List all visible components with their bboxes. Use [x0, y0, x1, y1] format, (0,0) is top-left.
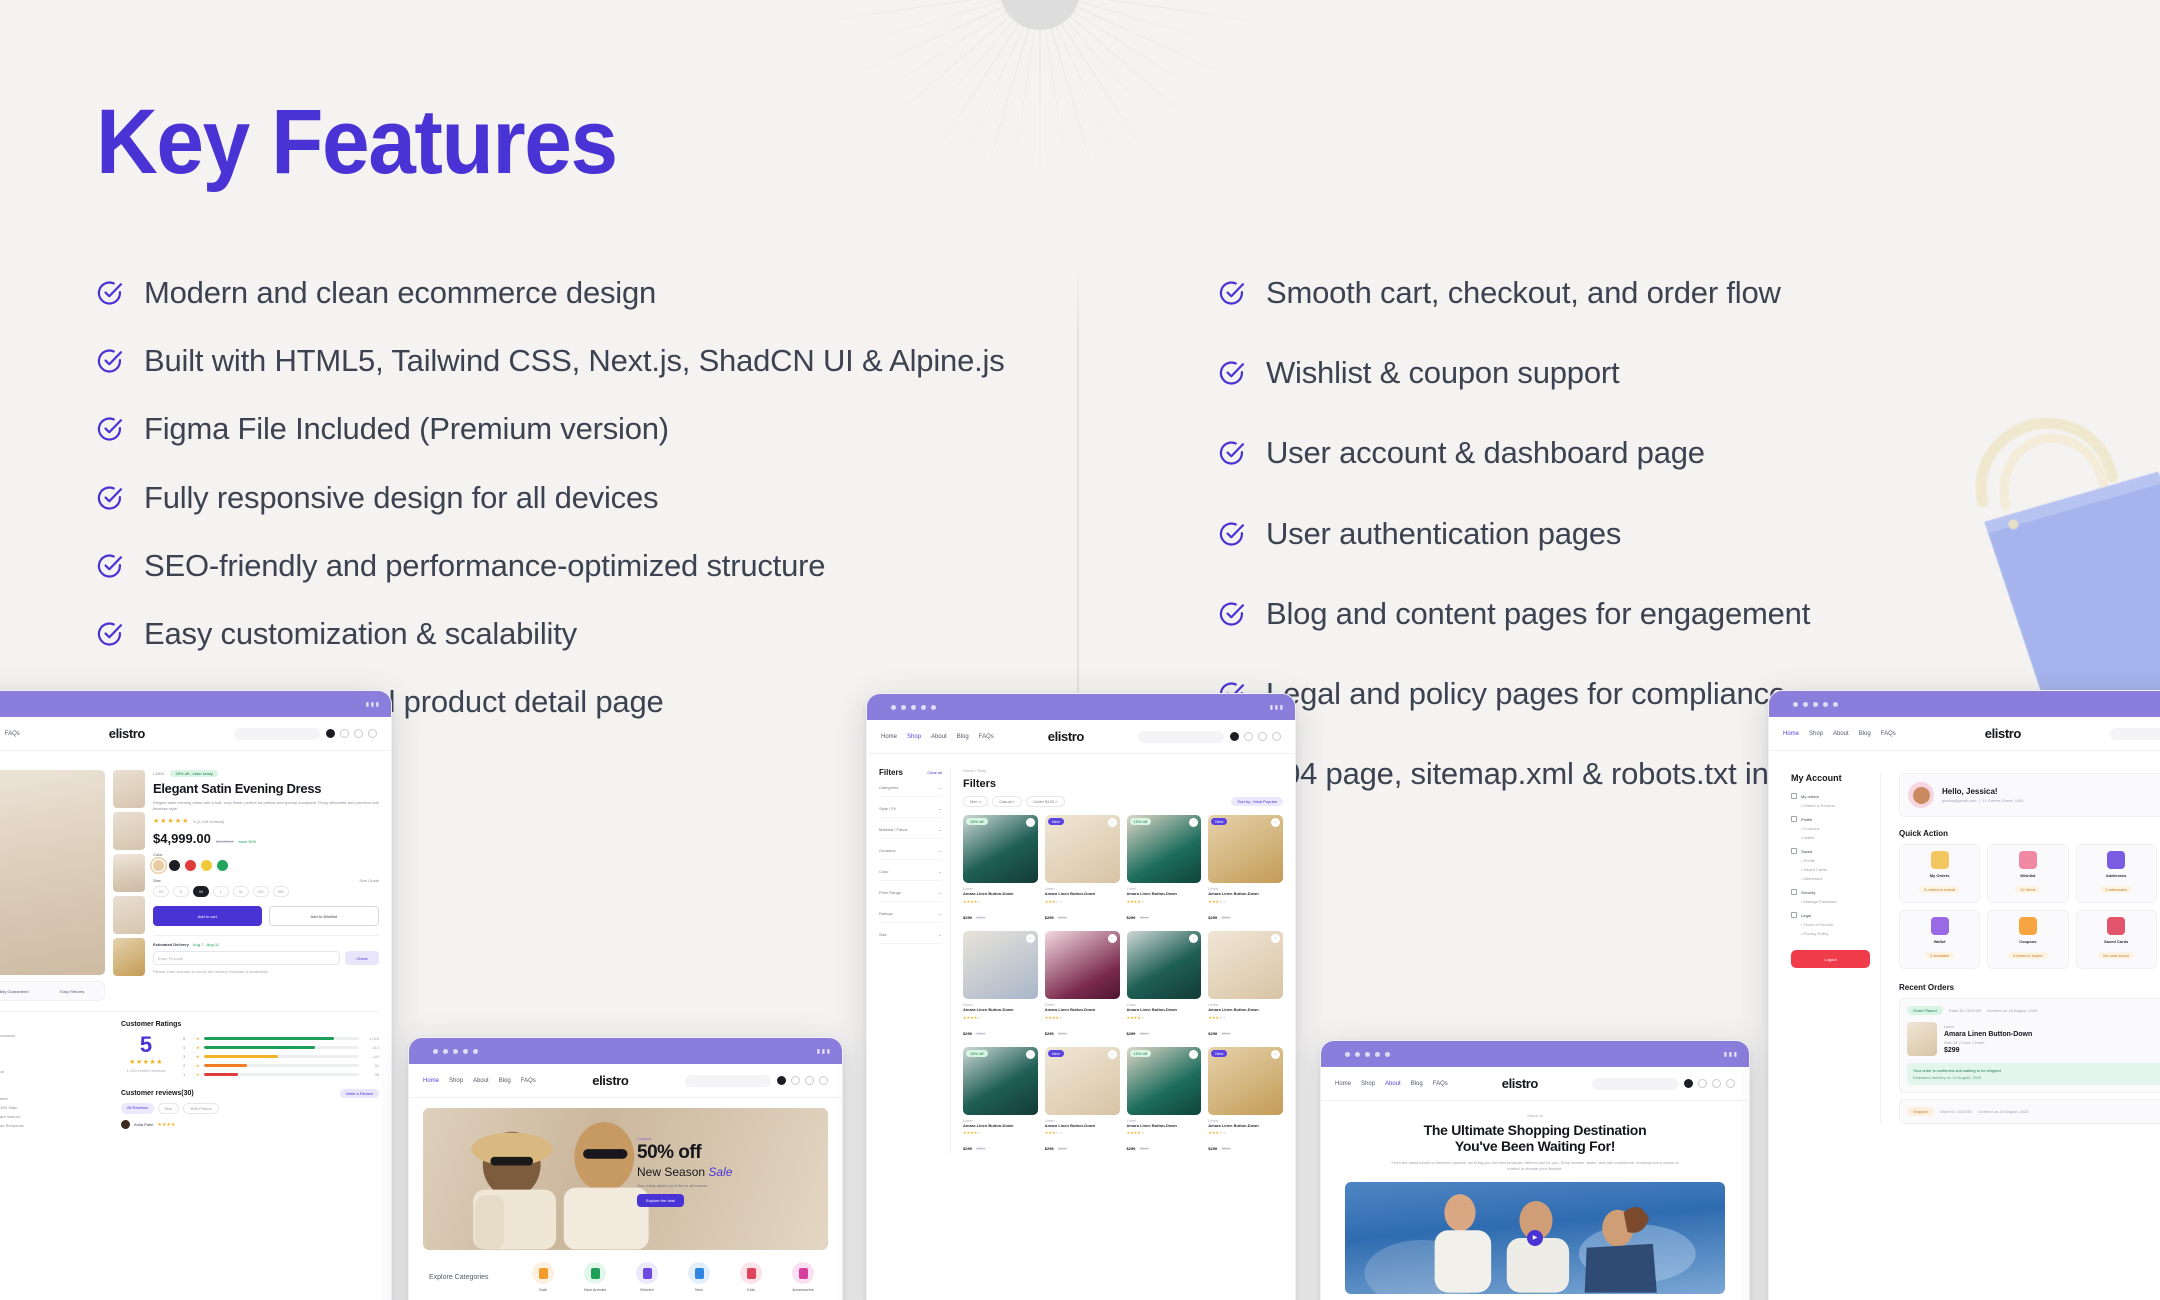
product-card[interactable]: ♡ Linen Amara Linen Button-Down ★★★★★ $2… [963, 931, 1038, 1040]
save-text: save 30% [239, 839, 257, 844]
rating-bar-row: 1 ★ 36 [183, 1072, 379, 1077]
quick-action-icon [1931, 851, 1949, 869]
nav-group-icon [1791, 848, 1797, 854]
mockup2-nav-right [685, 1075, 828, 1087]
avatar-icon[interactable] [777, 1076, 786, 1085]
order-item-brand: Linen [1944, 1024, 2032, 1029]
search-input[interactable] [685, 1075, 771, 1087]
logout-button[interactable]: Logout [1791, 950, 1870, 968]
search-input[interactable] [1592, 1078, 1678, 1090]
check-circle-icon [1218, 359, 1246, 392]
check-pincode-button[interactable]: Check [345, 951, 379, 965]
avatar-icon[interactable] [1684, 1079, 1693, 1088]
mockup2-nav-links[interactable]: HomeShopAboutBlogFAQs [423, 1078, 536, 1084]
review-filter-chip[interactable]: All Reviews [121, 1103, 154, 1114]
mockup-user-dashboard[interactable]: ▮ ▮ ▮ HomeShopAboutBlogFAQs elistro My A… [1768, 690, 2160, 1300]
nav-group-icon [1791, 816, 1797, 822]
rating-bar-row: 3 ★ 144 [183, 1054, 379, 1059]
feature-label: Legal and policy pages for compliance [1266, 673, 1786, 714]
search-input[interactable] [1138, 731, 1224, 743]
about-title-line1: The Ultimate Shopping Destination [1345, 1122, 1725, 1138]
color-swatch[interactable] [153, 860, 164, 871]
add-to-cart-button[interactable]: Add to cart [153, 906, 262, 926]
chrome-status: ▮ ▮ ▮ [1270, 704, 1283, 711]
mockup3-navbar: HomeShopAboutBlogFAQs elistro [867, 720, 1295, 754]
filter-group[interactable]: Style / Fit⌄ [879, 806, 942, 818]
mockup1-nav-links[interactable]: HomeShopAboutBlogFAQs [0, 731, 20, 737]
nav-icon-group[interactable] [1230, 732, 1281, 741]
mockup5-body: My Account My orders• Orders & Returns P… [1769, 751, 2160, 1146]
browser-chrome-bar: ▮ ▮ ▮ [867, 694, 1295, 720]
recent-orders-heading: Recent Orders [1899, 983, 1954, 992]
quick-action-icon [2107, 851, 2125, 869]
details-heading: Product Details [0, 1021, 105, 1028]
chevron-down-icon: ⌄ [939, 911, 942, 916]
account-nav-item[interactable]: • Wallet [1801, 835, 1870, 840]
avatar-icon[interactable] [326, 729, 335, 738]
product-card[interactable]: 15% off ♡ Linen Amara Linen Button-Down … [963, 1047, 1038, 1156]
filters-heading: Filters [879, 768, 903, 777]
avatar-icon[interactable] [1230, 732, 1239, 741]
cart-icon[interactable] [1258, 732, 1267, 741]
wishlist-icon[interactable]: ♡ [1189, 1050, 1198, 1059]
mockup3-nav-right [1138, 731, 1281, 743]
mockup-homepage[interactable]: ▮ ▮ ▮ HomeShopAboutBlogFAQs elistro [408, 1037, 843, 1300]
check-circle-icon [96, 484, 124, 517]
about-title-line2: You've Been Waiting For! [1345, 1138, 1725, 1154]
product-card[interactable]: ♡ Linen Amara Linen Button-Down ★★★★★ $2… [1127, 931, 1202, 1040]
nav-link-shop[interactable]: Shop [1361, 1081, 1375, 1087]
quick-action-icon [2019, 917, 2037, 935]
rating-bar-row: 5 ★ 1,043 [183, 1036, 379, 1041]
hero-sub-plain: New Season [637, 1165, 705, 1179]
search-input[interactable] [234, 728, 320, 740]
hero-description: Sun-ready styles you'll live in all seas… [637, 1183, 812, 1188]
cart-icon[interactable] [354, 729, 363, 738]
detail-item: —Lightweight & comfortable, perfect for … [0, 1069, 105, 1074]
second-order-date: Ordered on 20 August, 2025 [1978, 1109, 2028, 1114]
chevron-down-icon: ⌄ [939, 827, 942, 832]
product-card[interactable]: New ♡ Linen Amara Linen Button-Down ★★★★… [1208, 1047, 1283, 1156]
second-order-status-badge: Shipped [1907, 1107, 1934, 1116]
brand-logo: elistro [1448, 1076, 1592, 1091]
trust-badge-3: Easy Returns [60, 989, 84, 994]
nav-link-about[interactable]: About [473, 1078, 489, 1084]
spec-row: Evening WearDart Response [0, 1121, 105, 1130]
active-filter-chips[interactable]: Men ×Casual ×Under $100 × [963, 796, 1065, 807]
window-dots [1345, 1052, 1390, 1057]
mockup5-nav-links[interactable]: HomeShopAboutBlogFAQs [1783, 731, 1896, 737]
order-date: Ordered on 18 August, 2025 [1987, 1008, 2037, 1013]
feature-label: Built with HTML5, Tailwind CSS, Next.js,… [144, 340, 1005, 381]
feature-item: Smooth cart, checkout, and order flow [1218, 272, 2064, 313]
sort-dropdown[interactable]: Sort by : Most Popular [1231, 797, 1283, 806]
feature-label: User account & dashboard page [1266, 432, 1705, 473]
search-input[interactable] [2110, 728, 2160, 740]
about-video-banner[interactable]: ▶ [1345, 1182, 1725, 1294]
nav-link-home[interactable]: Home [881, 734, 897, 740]
rating-bar-row: 2 ★ 52 [183, 1063, 379, 1068]
account-nav-item[interactable]: • Coupons [1801, 826, 1870, 831]
chrome-status: ▮ ▮ ▮ [366, 701, 379, 708]
mockup-product-detail[interactable]: ▮ ▮ ▮ HomeShopAboutBlogFAQs elistro Home… [0, 690, 392, 1300]
size-option[interactable]: 3XL [273, 886, 289, 897]
listing-heading: Filters [963, 778, 1283, 790]
delivery-dates: Aug 7 - Aug 11 [193, 942, 219, 947]
product-grid: 15% off ♡ Linen Amara Linen Button-Down … [963, 815, 1283, 1155]
check-circle-icon [1218, 439, 1246, 472]
avatar [1908, 782, 1934, 808]
filter-group[interactable]: Occasion⌄ [879, 848, 942, 860]
nav-link-shop[interactable]: Shop [1809, 731, 1823, 737]
chevron-down-icon: ⌄ [939, 890, 942, 895]
nav-link-faqs[interactable]: FAQs [5, 731, 20, 737]
mockup4-nav-links[interactable]: HomeShopAboutBlogFAQs [1335, 1081, 1448, 1087]
rating-stars-icon: ★★★★★ [121, 1058, 171, 1066]
quick-action-heading: Quick Action [1899, 829, 2160, 838]
wishlist-icon[interactable]: ♡ [1026, 934, 1035, 943]
breadcrumb: Home / Shop / Women / Dress / Evening Dr… [0, 759, 379, 764]
profile-email: jessica@gmail.com [1942, 798, 1977, 803]
reviewer-name: Anita Patel [134, 1122, 153, 1127]
filter-group[interactable]: Size⌄ [879, 932, 942, 944]
chrome-status: ▮ ▮ ▮ [817, 1048, 830, 1055]
feature-label: Modern and clean ecommerce design [144, 272, 656, 313]
category-item[interactable]: Accessories [784, 1262, 822, 1292]
breadcrumb: Home / Shop [963, 768, 1283, 773]
check-circle-icon [1218, 520, 1246, 553]
mockup-product-listing[interactable]: ▮ ▮ ▮ HomeShopAboutBlogFAQs elistro Filt… [866, 693, 1296, 1300]
filter-group[interactable]: Price Range⌄ [879, 890, 942, 902]
size-option[interactable]: 2XL [253, 886, 269, 897]
feature-label: Blog and content pages for engagement [1266, 593, 1810, 634]
user-icon[interactable] [1726, 1079, 1735, 1088]
brand-logo: elistro [536, 1073, 685, 1088]
user-icon[interactable] [368, 729, 377, 738]
trust-badge-2: Quality Guaranteed [0, 989, 29, 994]
spec-row: Women's Formalwear100% Satin [0, 1103, 105, 1112]
size-guide-link[interactable]: Size Guide [359, 878, 379, 883]
product-label: LABEL [153, 771, 165, 776]
mockup5-nav-right [2110, 728, 2160, 740]
profile-card: Hello, Jessica! jessica@gmail.com | 21 G… [1899, 773, 2160, 817]
quick-action-icon [2019, 851, 2037, 869]
category-item[interactable]: New Arrivals [576, 1262, 614, 1292]
specs-table: CategoryFabricWomen's Formalwear100% Sat… [0, 1094, 105, 1130]
ratings-heading: Customer Ratings [121, 1021, 379, 1028]
mockup4-navbar: HomeShopAboutBlogFAQs elistro [1321, 1067, 1749, 1101]
size-option[interactable]: XS [153, 886, 169, 897]
color-swatch[interactable] [169, 860, 180, 871]
account-heading: My Account [1791, 773, 1870, 783]
product-title: Elegant Satin Evening Dress [153, 781, 379, 796]
feature-label: SEO-friendly and performance-optimized s… [144, 545, 825, 586]
check-circle-icon [1218, 600, 1246, 633]
detail-item: —Elegant A-Line Satin Dress for parties … [0, 1033, 105, 1038]
nav-link-home[interactable]: Home [1335, 1081, 1351, 1087]
quick-action-card[interactable]: My Orders 3 orders in transit [1899, 844, 1980, 903]
mockup-about-page[interactable]: ▮ ▮ ▮ HomeShopAboutBlogFAQs elistro Abou… [1320, 1040, 1750, 1300]
mockup4-nav-right [1592, 1078, 1735, 1090]
rating-bars: 5 ★ 1,0434 ★ 4123 ★ 1442 ★ 521 ★ 36 [183, 1034, 379, 1077]
window-dots [433, 1049, 478, 1054]
detail-item: —Midi length with soft, flowing drape [0, 1051, 105, 1056]
product-card[interactable]: 15% off ♡ Linen Amara Linen Button-Down … [1127, 1047, 1202, 1156]
order-item-meta: Size: M | Color: Cream [1944, 1040, 2032, 1045]
check-circle-icon [96, 620, 124, 653]
review-filter-chips[interactable]: All ReviewsStarWith Photos [121, 1103, 379, 1114]
nav-icon-group[interactable] [1684, 1079, 1735, 1088]
write-review-button[interactable]: Write a Review [340, 1089, 379, 1098]
quick-action-card[interactable]: Wishlist 12 items [1987, 844, 2068, 903]
color-swatches[interactable] [153, 860, 379, 871]
brand-logo: elistro [20, 726, 234, 741]
filter-chip[interactable]: Casual × [992, 796, 1022, 807]
order-card: Order Placed Order ID: OD2093 Ordered on… [1899, 998, 2160, 1093]
sunburst-decoration [810, 0, 1270, 220]
quick-action-card[interactable]: Addresses 2 addresses [2076, 844, 2157, 903]
nav-link-blog[interactable]: Blog [499, 1078, 511, 1084]
quick-action-card[interactable]: Coupons 4 Items to expire [1987, 910, 2068, 969]
order-note-sub: Estimated delivery on 24 August, 2025 [1913, 1075, 2160, 1080]
nav-link-shop[interactable]: Shop [449, 1078, 463, 1084]
product-card[interactable]: 15% off ♡ Linen Amara Linen Button-Down … [1127, 815, 1202, 924]
category-item[interactable]: Kids [732, 1262, 770, 1292]
mockup4-body: About us The Ultimate Shopping Destinati… [1321, 1101, 1749, 1300]
feature-label: User authentication pages [1266, 513, 1621, 554]
nav-link-blog[interactable]: Blog [1411, 1081, 1423, 1087]
hero-cta-button[interactable]: Explore the deal [637, 1194, 684, 1207]
browser-chrome-bar: ▮ ▮ ▮ [1321, 1041, 1749, 1067]
check-circle-icon [96, 552, 124, 585]
product-card[interactable]: 15% off ♡ Linen Amara Linen Button-Down … [963, 815, 1038, 924]
nav-link-home[interactable]: Home [423, 1078, 439, 1084]
feature-item: Easy customization & scalability [96, 613, 1018, 654]
review-filter-chip[interactable]: With Photos [183, 1103, 219, 1114]
product-old-price: $6,999.00 [216, 839, 234, 844]
profile-address: 21 Greens Street, USA [1982, 798, 2023, 803]
filter-group[interactable]: Material / Fabric⌄ [879, 827, 942, 839]
filter-group[interactable]: Color⌄ [879, 869, 942, 881]
chevron-down-icon: ⌄ [939, 785, 942, 790]
nav-group-icon [1791, 889, 1797, 895]
mockup3-body: Filters Clear all Categories⌄Style / Fit… [867, 754, 1295, 1169]
page-root: Key Features Modern and clean ecommerce … [0, 0, 2160, 1300]
product-card[interactable]: New ♡ Linen Amara Linen Button-Down ★★★★… [1045, 815, 1120, 924]
hero-eyebrow: Coupon [637, 1136, 812, 1141]
product-card[interactable]: ♡ Linen Amara Linen Button-Down ★★★★★ $2… [1045, 931, 1120, 1040]
nav-group-icon [1791, 793, 1797, 799]
second-order-id: Order ID: OD2092 [1940, 1109, 1972, 1114]
nav-link-faqs[interactable]: FAQs [979, 734, 994, 740]
product-card[interactable]: ♡ Linen Amara Linen Button-Down ★★★★★ $2… [1208, 931, 1283, 1040]
check-circle-icon [96, 279, 124, 312]
clear-all-link[interactable]: Clear all [927, 770, 942, 775]
window-dots [891, 705, 936, 710]
size-selector[interactable]: XSSMLXL2XL3XL [153, 886, 379, 897]
account-nav-item[interactable]: • Orders & Returns [1801, 803, 1870, 808]
wishlist-icon[interactable]: ♡ [1271, 818, 1280, 827]
wishlist-icon[interactable]: ♡ [1189, 934, 1198, 943]
wishlist-icon[interactable]: ♡ [1026, 1050, 1035, 1059]
order-card-2: Shipped Order ID: OD2092 Ordered on 20 A… [1899, 1099, 2160, 1124]
account-nav-item[interactable]: • Addresses [1801, 876, 1870, 881]
nav-link-about[interactable]: About [1385, 1081, 1401, 1087]
detail-item: —Available in solid & contrast / embroid… [0, 1060, 105, 1065]
nav-link-faqs[interactable]: FAQs [1881, 731, 1896, 737]
quick-action-icon [1931, 917, 1949, 935]
wishlist-icon[interactable]: ♡ [1189, 818, 1198, 827]
color-swatch[interactable] [217, 860, 228, 871]
mockup1-navbar: HomeShopAboutBlogFAQs elistro [0, 717, 391, 751]
filter-chip[interactable]: Men × [963, 796, 988, 807]
pincode-input[interactable]: Enter Pincode [153, 951, 340, 965]
feature-label: Wishlist & coupon support [1266, 352, 1619, 393]
wishlist-icon[interactable]: ♡ [1108, 1050, 1117, 1059]
delivery-label: Estimated Delivery [153, 942, 189, 947]
wishlist-icon[interactable] [1244, 732, 1253, 741]
quick-action-grid[interactable]: My Orders 3 orders in transit Wishlist 1… [1899, 844, 2160, 969]
filter-chip[interactable]: Under $100 × [1026, 796, 1064, 807]
nav-link-shop[interactable]: Shop [907, 734, 921, 740]
wishlist-icon[interactable] [340, 729, 349, 738]
wishlist-icon[interactable]: ♡ [1271, 934, 1280, 943]
rating-value: 5 [121, 1034, 171, 1056]
order-item-name: Amara Linen Button-Down [1944, 1031, 2032, 1038]
details-list: —Elegant A-Line Satin Dress for parties … [0, 1033, 105, 1074]
nav-link-faqs[interactable]: FAQs [1433, 1081, 1448, 1087]
order-item-price: $299 [1944, 1047, 2032, 1054]
spec-row: OccasionCare Instruct [0, 1112, 105, 1121]
about-description: From the latest trends to timeless class… [1391, 1160, 1679, 1173]
cart-icon[interactable] [1712, 1079, 1721, 1088]
account-nav-group: Profile• Coupons• Wallet [1791, 816, 1870, 840]
account-nav-group: Security• Manage Password [1791, 889, 1870, 904]
quick-action-card[interactable]: Saved Cards No card saved [2076, 910, 2157, 969]
size-option[interactable]: S [173, 886, 189, 897]
mockup2-navbar: HomeShopAboutBlogFAQs elistro [409, 1064, 842, 1098]
nav-link-faqs[interactable]: FAQs [521, 1078, 536, 1084]
feature-label: Fully responsive design for all devices [144, 477, 658, 518]
product-card[interactable]: New ♡ Linen Amara Linen Button-Down ★★★★… [1045, 1047, 1120, 1156]
rating-sub: 1,243 verified reviews [121, 1068, 171, 1073]
account-nav-item[interactable]: • Terms of Service [1801, 922, 1870, 927]
feature-label: Smooth cart, checkout, and order flow [1266, 272, 1781, 313]
browser-chrome-bar: ▮ ▮ ▮ [0, 691, 391, 717]
review-filter-chip[interactable]: Star [158, 1103, 179, 1114]
feature-item: User authentication pages [1218, 513, 2064, 554]
browser-chrome-bar: ▮ ▮ ▮ [409, 1038, 842, 1064]
play-button-icon[interactable]: ▶ [1527, 1230, 1543, 1246]
star-rating-icon: ★★★★★ [153, 817, 189, 825]
feature-item: User account & dashboard page [1218, 432, 2064, 473]
mockup5-navbar: HomeShopAboutBlogFAQs elistro [1769, 717, 2160, 751]
user-icon[interactable] [1272, 732, 1281, 741]
quick-action-icon [2107, 917, 2125, 935]
category-item[interactable]: Men [680, 1262, 718, 1292]
categories-label: Explore Categories [429, 1274, 489, 1281]
review-stars-icon: ★★★★ [157, 1122, 175, 1128]
hero-banner: Coupon 50% off New Season Sale Sun-ready… [423, 1108, 828, 1250]
filter-group[interactable]: Ratings⌄ [879, 911, 942, 923]
wishlist-icon[interactable]: ♡ [1026, 818, 1035, 827]
rating-text: 5 (1,243 reviews) [193, 819, 224, 824]
feature-item: Blog and content pages for engagement [1218, 593, 2064, 634]
size-option[interactable]: XL [233, 886, 249, 897]
quick-action-card[interactable]: Wallet 2 available [1899, 910, 1980, 969]
specs-heading: Specifications [0, 1083, 105, 1090]
category-list[interactable]: Sale New Arrivals Women Men Kids Accesso… [503, 1262, 822, 1292]
account-nav-group: Saved• Profile• Saved Cards• Addresses [1791, 848, 1870, 881]
nav-link-home[interactable]: Home [1783, 731, 1799, 737]
discount-badge: 25% off - order today [170, 770, 217, 777]
product-description: Elegant satin evening dress with a soft,… [153, 800, 379, 812]
product-card[interactable]: New ♡ Linen Amara Linen Button-Down ★★★★… [1208, 815, 1283, 924]
filter-group[interactable]: Categories⌄ [879, 785, 942, 797]
account-nav-item[interactable]: • Manage Password [1801, 899, 1870, 904]
account-nav-group: Legal• Terms of Service• Privacy Policy [1791, 912, 1870, 936]
size-option[interactable]: M [193, 886, 209, 897]
category-item[interactable]: Women [628, 1262, 666, 1292]
account-nav-item[interactable]: • Privacy Policy [1801, 931, 1870, 936]
about-eyebrow: About us [1345, 1113, 1725, 1118]
account-nav-item[interactable]: • Saved Cards [1801, 867, 1870, 872]
color-swatch[interactable] [185, 860, 196, 871]
nav-link-blog[interactable]: Blog [1859, 731, 1871, 737]
browser-chrome-bar: ▮ ▮ ▮ [1769, 691, 2160, 717]
category-item[interactable]: Sale [524, 1262, 562, 1292]
chevron-down-icon: ⌄ [939, 848, 942, 853]
wishlist-icon[interactable] [791, 1076, 800, 1085]
order-note-title: Your order is confirmed and waiting to b… [1913, 1068, 2160, 1073]
wishlist-icon[interactable]: ♡ [1271, 1050, 1280, 1059]
feature-label: Figma File Included (Premium version) [144, 408, 669, 449]
nav-icon-group[interactable] [326, 729, 377, 738]
feature-label: Easy customization & scalability [144, 613, 577, 654]
product-price: $4,999.00 [153, 831, 211, 846]
check-circle-icon [96, 415, 124, 448]
cart-icon[interactable] [805, 1076, 814, 1085]
hero-sub-italic: Sale [708, 1165, 732, 1179]
nav-icon-group[interactable] [777, 1076, 828, 1085]
user-icon[interactable] [819, 1076, 828, 1085]
mockup3-nav-links[interactable]: HomeShopAboutBlogFAQs [881, 734, 994, 740]
nav-link-about[interactable]: About [1833, 731, 1849, 737]
spec-row: CategoryFabric [0, 1094, 105, 1103]
size-option[interactable]: L [213, 886, 229, 897]
account-nav-item[interactable]: • Profile [1801, 858, 1870, 863]
color-swatch[interactable] [201, 860, 212, 871]
wishlist-icon[interactable]: ♡ [1108, 818, 1117, 827]
add-to-wishlist-button[interactable]: Add to Wishlist [269, 906, 380, 926]
order-note: Your order is confirmed and waiting to b… [1907, 1063, 2160, 1085]
filter-groups[interactable]: Categories⌄Style / Fit⌄Material / Fabric… [879, 785, 942, 944]
account-nav[interactable]: My orders• Orders & Returns Profile• Cou… [1791, 793, 1870, 936]
reviews-heading: Customer reviews(30) [121, 1090, 194, 1097]
nav-link-about[interactable]: About [931, 734, 947, 740]
wishlist-icon[interactable]: ♡ [1108, 934, 1117, 943]
order-status-badge: Order Placed [1907, 1006, 1943, 1015]
chevron-down-icon: ⌄ [939, 869, 942, 874]
rating-bar-row: 4 ★ 412 [183, 1045, 379, 1050]
account-nav-group: My orders• Orders & Returns [1791, 793, 1870, 808]
page-title: Key Features [96, 96, 617, 188]
wishlist-icon[interactable] [1698, 1079, 1707, 1088]
brand-logo: elistro [994, 729, 1138, 744]
size-label: Size [153, 878, 161, 883]
nav-link-blog[interactable]: Blog [957, 734, 969, 740]
chrome-status: ▮ ▮ ▮ [1724, 1051, 1737, 1058]
